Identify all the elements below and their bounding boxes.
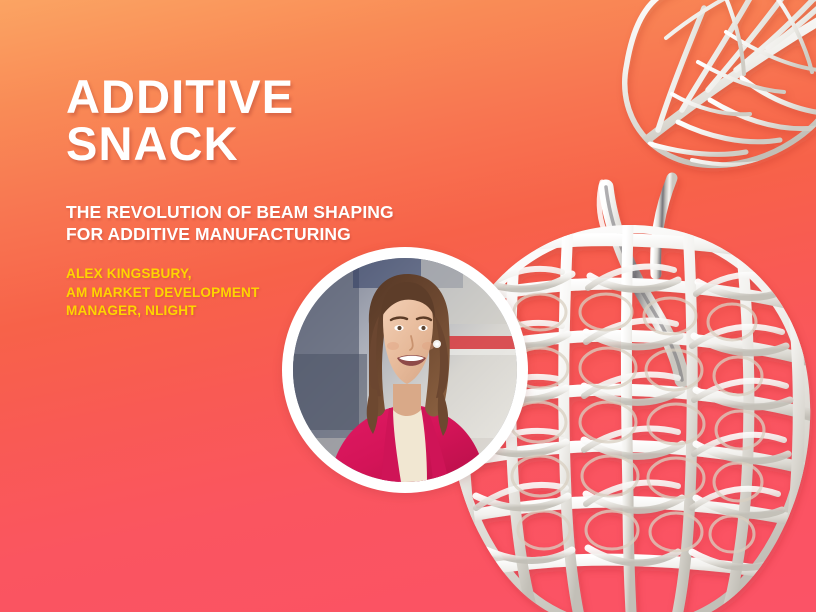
subtitle-line-1: THE REVOLUTION OF BEAM SHAPING — [66, 202, 394, 222]
page-title: ADDITIVESNACK — [66, 74, 426, 167]
presenter-portrait-photo — [293, 258, 517, 482]
presentation-slide: ADDITIVESNACK THE REVOLUTION OF BEAM SHA… — [0, 0, 816, 612]
presenter-portrait — [282, 247, 528, 493]
title-line-2: SNACK — [66, 121, 426, 168]
subtitle-line-2: FOR ADDITIVE MANUFACTURING — [66, 223, 426, 245]
title-line-1: ADDITIVE — [66, 70, 294, 123]
slide-subtitle: THE REVOLUTION OF BEAM SHAPINGFOR ADDITI… — [66, 201, 426, 245]
